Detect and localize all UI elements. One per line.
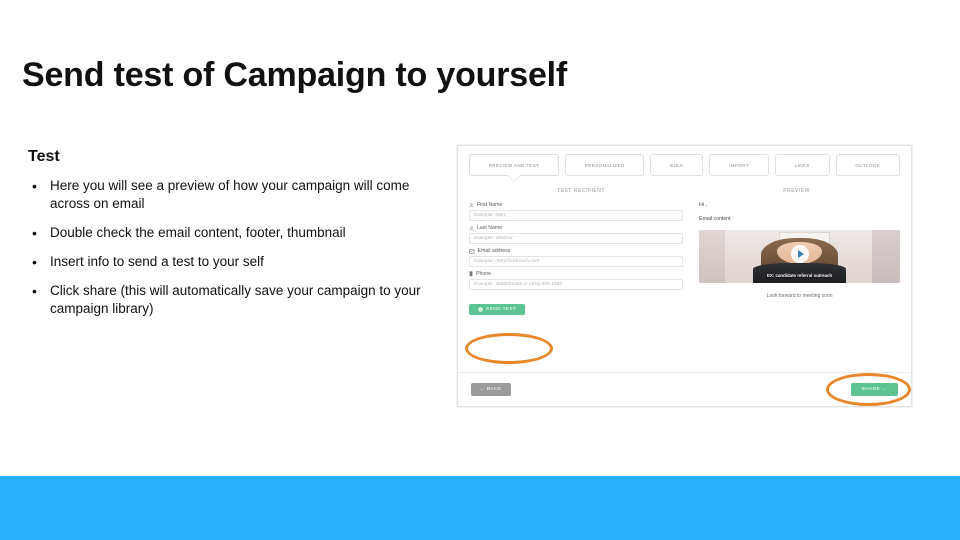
tab-preview-and-test[interactable]: PREVIEW AND TEST (469, 154, 559, 176)
preview-content-label: Email content (699, 216, 900, 222)
tab-label: PERSONALIZED (585, 163, 625, 168)
person-icon (469, 203, 474, 208)
field-label-text: First Name (477, 202, 502, 208)
send-test-label: SEND TEST (486, 307, 516, 312)
video-thumbnail[interactable]: EX: candidate referral outreach (699, 230, 900, 283)
list-item: • Insert info to send a test to your sel… (28, 253, 438, 271)
panes: First Name Example: Mary Last Name Examp… (458, 194, 911, 317)
tab-label: PREVIEW AND TEST (489, 163, 539, 168)
tab-links[interactable]: LINKS (775, 154, 830, 176)
email-address-label: Email address (469, 248, 683, 254)
email-preview-pane: Hi , Email content EX: candidate referra… (693, 198, 900, 317)
send-test-button[interactable]: SEND TEST (469, 304, 525, 315)
bullet-marker: • (28, 253, 50, 271)
back-button[interactable]: ← BACK (471, 383, 511, 396)
list-item: • Double check the email content, footer… (28, 224, 438, 242)
bullet-text: Click share (this will automatically sav… (50, 282, 438, 318)
bullet-text: Here you will see a preview of how your … (50, 177, 438, 213)
list-item: • Click share (this will automatically s… (28, 282, 438, 318)
preview-greeting: Hi , (699, 202, 900, 208)
slide-canvas: Send test of Campaign to yourself Test •… (0, 0, 960, 540)
page-title: Send test of Campaign to yourself (22, 56, 567, 95)
section-header-test-recipient: TEST RECIPIENT (469, 188, 693, 194)
body-text-column: Test • Here you will see a preview of ho… (28, 148, 438, 329)
test-recipient-form: First Name Example: Mary Last Name Examp… (469, 198, 693, 317)
first-name-placeholder: Example: Mary (474, 213, 506, 218)
bullet-marker: • (28, 282, 50, 300)
bullet-marker: • (28, 177, 50, 195)
check-circle-icon (478, 307, 483, 312)
app-footer-bar: ← BACK SHARE → (458, 372, 911, 406)
bullet-text: Double check the email content, footer, … (50, 224, 346, 242)
phone-input[interactable]: Example: 4048001085 or (404) 800-1085 (469, 279, 683, 290)
list-item: • Here you will see a preview of how you… (28, 177, 438, 213)
first-name-input[interactable]: Example: Mary (469, 210, 683, 221)
email-address-input[interactable]: Example: mary@vidreach.com (469, 256, 683, 267)
tab-bulk[interactable]: BULK (650, 154, 703, 176)
tab-label: OUTLOOK (855, 163, 880, 168)
phone-placeholder: Example: 4048001085 or (404) 800-1085 (474, 282, 562, 287)
envelope-icon (469, 249, 475, 254)
tab-label: LINKS (795, 163, 810, 168)
share-button[interactable]: SHARE → (851, 383, 898, 396)
email-address-placeholder: Example: mary@vidreach.com (474, 259, 539, 264)
section-headers: TEST RECIPIENT PREVIEW (458, 188, 911, 194)
tab-import[interactable]: IMPORT (709, 154, 769, 176)
person-icon (469, 226, 474, 231)
phone-icon (469, 271, 473, 277)
phone-label: Phone (469, 271, 683, 277)
video-caption: EX: candidate referral outreach (699, 273, 900, 279)
body-heading: Test (28, 148, 438, 166)
field-label-text: Last Name (477, 225, 502, 231)
tab-personalized[interactable]: PERSONALIZED (565, 154, 644, 176)
tab-outlook[interactable]: OUTLOOK (836, 154, 901, 176)
preview-footer-text: Look forward to meeting soon (699, 293, 900, 299)
send-test-wrap: SEND TEST (469, 299, 525, 317)
last-name-placeholder: Example: Windsor (474, 236, 513, 241)
field-label-text: Phone (476, 271, 491, 277)
play-icon[interactable] (791, 245, 809, 263)
last-name-input[interactable]: Example: Windsor (469, 233, 683, 244)
tab-label: BULK (670, 163, 683, 168)
bullet-text: Insert info to send a test to your self (50, 253, 264, 271)
tab-bar: PREVIEW AND TEST PERSONALIZED BULK IMPOR… (458, 146, 911, 176)
first-name-label: First Name (469, 202, 683, 208)
section-header-preview: PREVIEW (693, 188, 900, 194)
bullet-marker: • (28, 224, 50, 242)
footer-band (0, 476, 960, 540)
app-screenshot: PREVIEW AND TEST PERSONALIZED BULK IMPOR… (457, 145, 912, 407)
last-name-label: Last Name (469, 225, 683, 231)
field-label-text: Email address (478, 248, 511, 254)
tab-label: IMPORT (729, 163, 749, 168)
